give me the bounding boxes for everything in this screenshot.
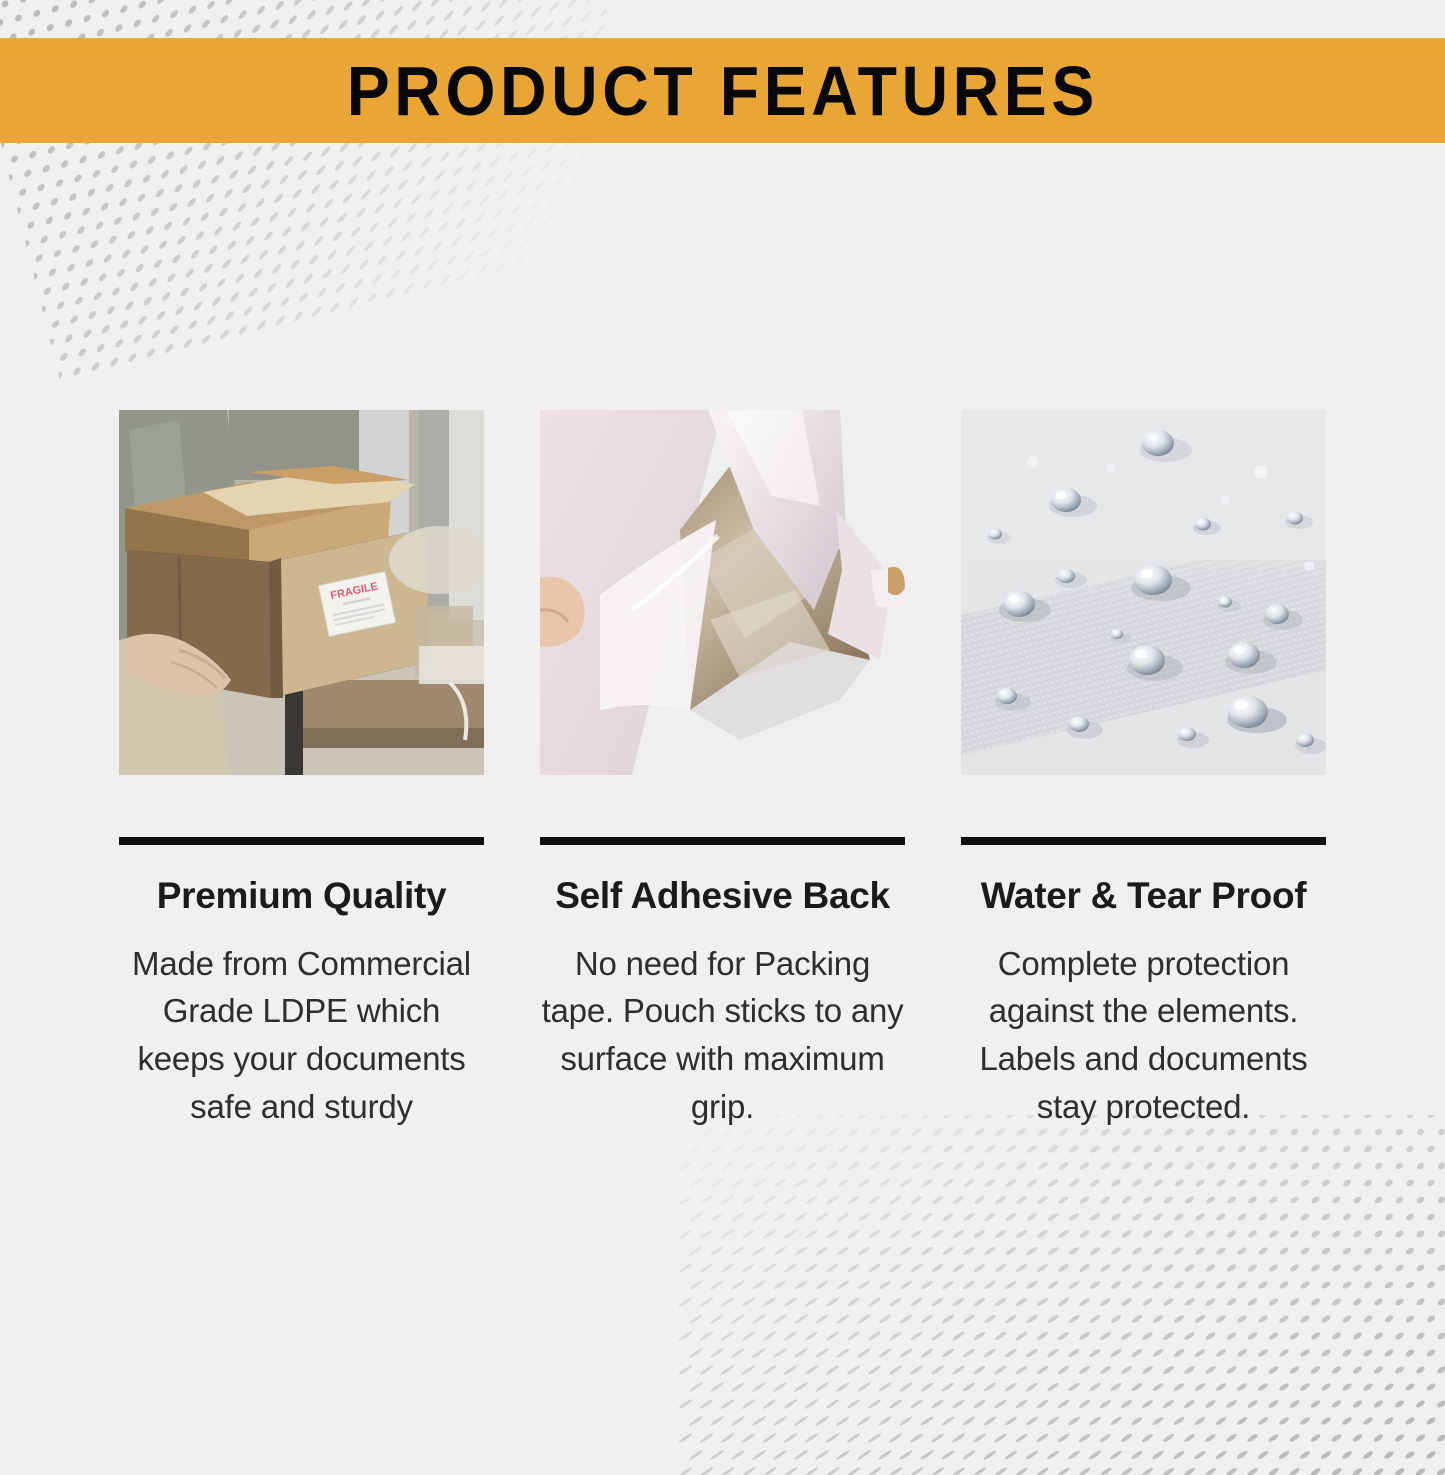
feature-card-water-tear-proof: Water & Tear Proof Complete protection a… [961,410,1326,1131]
product-features-banner: PRODUCT FEATURES [0,38,1445,143]
halftone-decoration-bottom-right [675,1115,1445,1475]
feature-description: Made from Commercial Grade LDPE which ke… [119,940,484,1131]
feature-title: Water & Tear Proof [961,875,1326,918]
card-divider-rule [961,837,1326,845]
feature-image-water-droplets [961,410,1326,775]
card-divider-rule [119,837,484,845]
card-divider-rule [540,837,905,845]
feature-title: Self Adhesive Back [540,875,905,918]
feature-image-boxes: FRAGILE [119,410,484,775]
feature-image-adhesive-peel [540,410,905,775]
feature-description: Complete protection against the elements… [961,940,1326,1131]
feature-card-premium-quality: FRAGILE Premium Quality [119,410,484,1131]
feature-card-self-adhesive-back: Self Adhesive Back No need for Packing t… [540,410,905,1131]
feature-title: Premium Quality [119,875,484,918]
page-title: PRODUCT FEATURES [346,56,1098,126]
feature-cards: FRAGILE Premium Quality [119,410,1326,1131]
feature-description: No need for Packing tape. Pouch sticks t… [540,940,905,1131]
